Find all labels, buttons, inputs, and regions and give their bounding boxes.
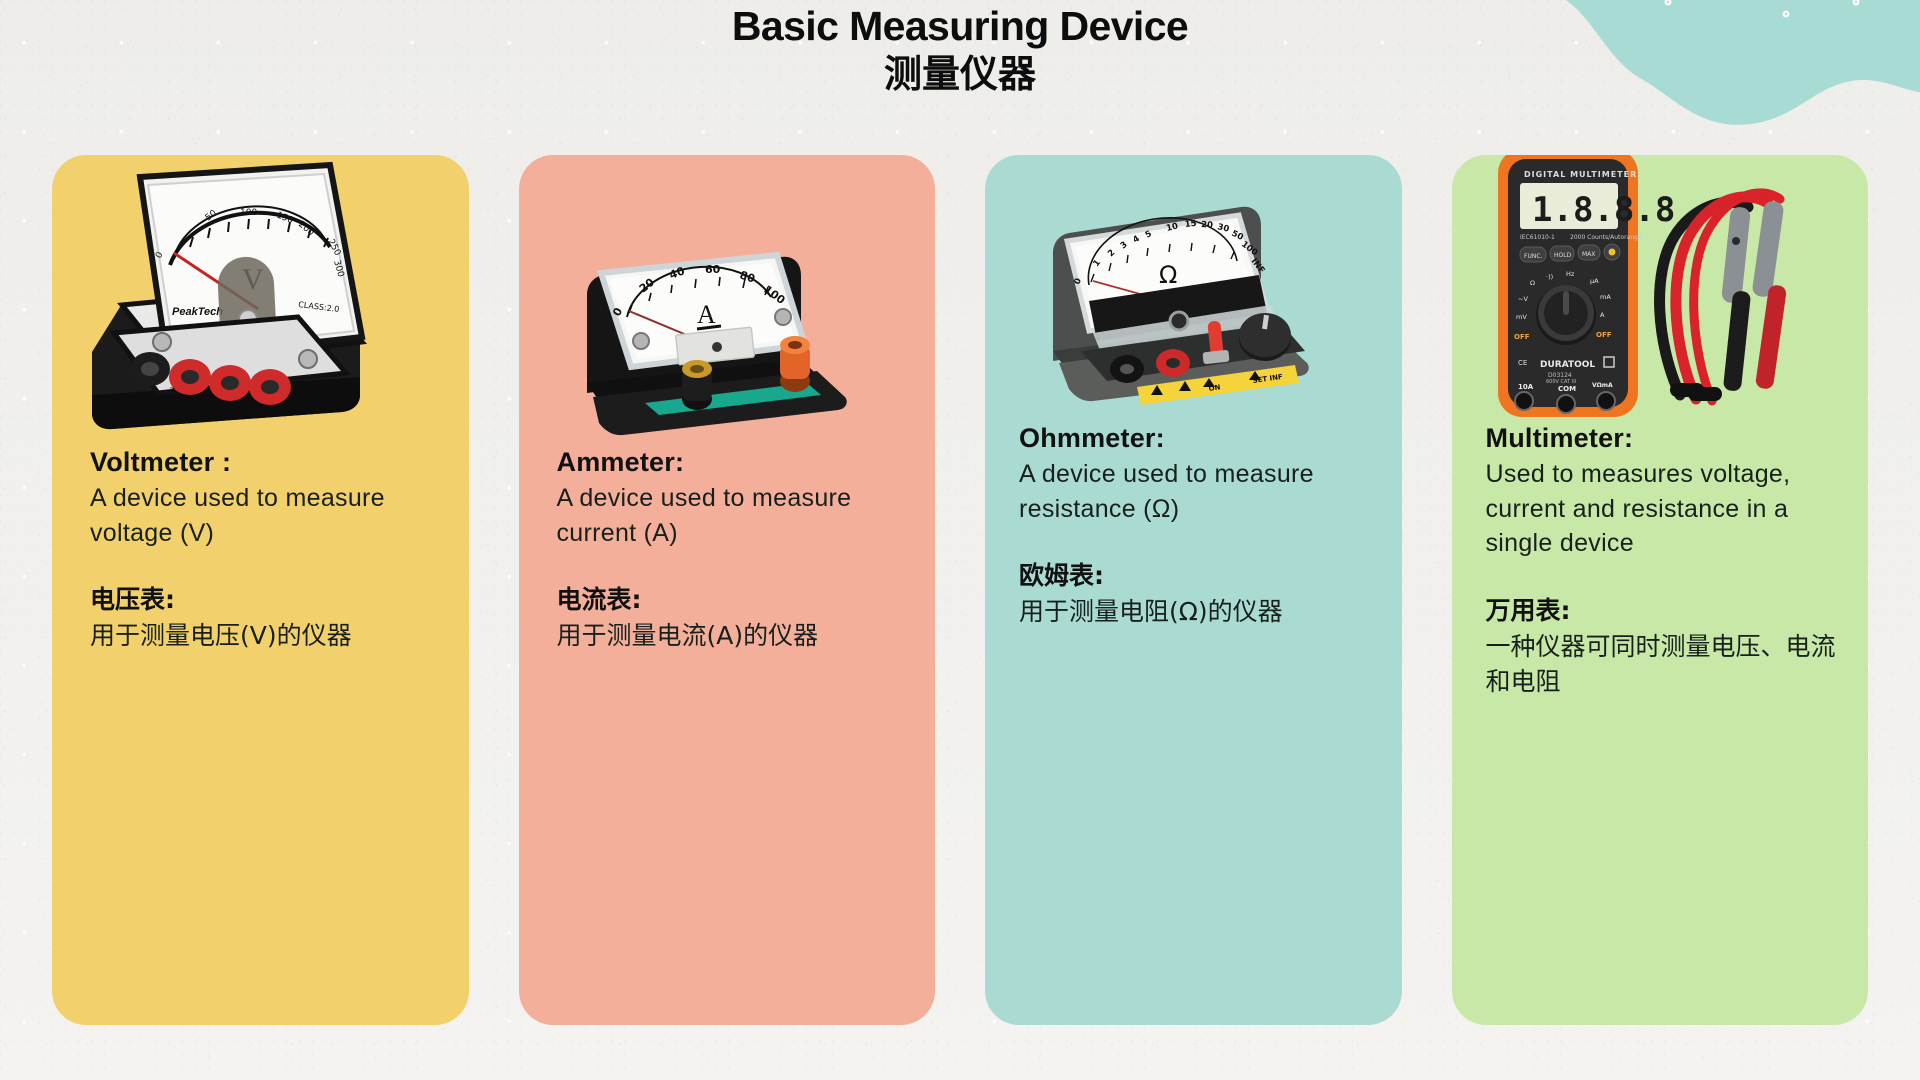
svg-text:CE: CE — [1518, 359, 1527, 367]
svg-text:COM: COM — [1558, 385, 1576, 393]
svg-text:2000 Counts/Autorange: 2000 Counts/Autorange — [1570, 234, 1642, 241]
svg-text:DIGITAL MULTIMETER: DIGITAL MULTIMETER — [1524, 170, 1637, 179]
voltmeter-text: Voltmeter : A device used to measure vol… — [52, 447, 469, 1025]
multimeter-desc-zh: 一种仪器可同时测量电压、电流和电阻 — [1486, 629, 1839, 700]
ohmmeter-desc-zh: 用于测量电阻(Ω)的仪器 — [1019, 594, 1372, 630]
voltmeter-desc-zh: 用于测量电压(V)的仪器 — [90, 618, 439, 654]
ammeter-term-zh: 电流表: — [557, 580, 906, 616]
ammeter-desc-en: A device used to measure current (A) — [557, 481, 906, 550]
analog-ammeter-illustration: 0 20 40 60 80 100 A — [549, 155, 869, 455]
ohmmeter-text: Ohmmeter: A device used to measure resis… — [985, 423, 1402, 1025]
svg-text:15: 15 — [204, 395, 220, 410]
svg-text:HOLD: HOLD — [1554, 252, 1572, 259]
svg-text:MAX: MAX — [1582, 251, 1595, 258]
svg-text:VΩmA: VΩmA — [1592, 382, 1613, 389]
svg-text:OFF: OFF — [1514, 333, 1530, 341]
svg-text:A: A — [1600, 311, 1605, 319]
svg-text:mA: mA — [1600, 293, 1611, 301]
svg-text:20: 20 — [1201, 220, 1214, 231]
svg-text:15: 15 — [1184, 219, 1197, 230]
multimeter-text: Multimeter: Used to measures voltage, cu… — [1452, 423, 1869, 1025]
analog-ohmmeter-illustration: 0 1 2 3 4 5 10 15 20 30 50 100 INF Ω — [1027, 155, 1327, 425]
svg-text:Hz: Hz — [1566, 270, 1575, 278]
title-chinese: 测量仪器 — [0, 52, 1920, 98]
svg-text:µA: µA — [1590, 277, 1599, 285]
ammeter-text: Ammeter: A device used to measure curren… — [519, 447, 936, 1025]
svg-text:1.8.8.8: 1.8.8.8 — [1532, 190, 1675, 230]
svg-text:FUNC.: FUNC. — [1524, 253, 1543, 260]
ammeter-photo: 0 20 40 60 80 100 A — [519, 155, 936, 447]
svg-text:Ω: Ω — [1530, 279, 1535, 287]
svg-text:mV: mV — [1516, 313, 1527, 321]
svg-text:600V CAT III: 600V CAT III — [1546, 379, 1576, 385]
svg-text:OFF: OFF — [1596, 331, 1612, 339]
ohmmeter-photo: 0 1 2 3 4 5 10 15 20 30 50 100 INF Ω — [985, 155, 1402, 423]
card-ohmmeter: 0 1 2 3 4 5 10 15 20 30 50 100 INF Ω — [985, 155, 1402, 1025]
svg-text:PeakTech: PeakTech — [172, 306, 223, 318]
svg-text:IEC61010-1: IEC61010-1 — [1520, 234, 1555, 241]
multimeter-photo: DIGITAL MULTIMETER 1.8.8.8 IEC61010-1 20… — [1452, 155, 1869, 423]
svg-text:100: 100 — [240, 208, 257, 218]
svg-text:~V: ~V — [1518, 295, 1528, 303]
ohmmeter-term-en: Ohmmeter: — [1019, 423, 1372, 454]
card-voltmeter: 0 100 50 200 150 250 300 V PeakTech CLAS… — [52, 155, 469, 1025]
analog-voltmeter-illustration: 0 100 50 200 150 250 300 V PeakTech CLAS… — [62, 155, 392, 457]
ohmmeter-desc-en: A device used to measure resistance (Ω) — [1019, 457, 1372, 526]
digital-multimeter-illustration: DIGITAL MULTIMETER 1.8.8.8 IEC61010-1 20… — [1474, 155, 1794, 433]
svg-text:DURATOOL: DURATOOL — [1540, 360, 1595, 370]
svg-text:D03124: D03124 — [1548, 372, 1572, 379]
ammeter-desc-zh: 用于测量电流(A)的仪器 — [557, 618, 906, 654]
svg-text:60: 60 — [705, 263, 721, 276]
page-title: Basic Measuring Device 测量仪器 — [0, 2, 1920, 98]
card-ammeter: 0 20 40 60 80 100 A — [519, 155, 936, 1025]
svg-text:A: A — [697, 300, 716, 329]
multimeter-desc-en: Used to measures voltage, current and re… — [1486, 457, 1839, 561]
svg-text:Ω: Ω — [1159, 261, 1177, 289]
card-multimeter: DIGITAL MULTIMETER 1.8.8.8 IEC61010-1 20… — [1452, 155, 1869, 1025]
svg-text:10A: 10A — [1518, 383, 1534, 391]
multimeter-term-zh: 万用表: — [1486, 591, 1839, 627]
svg-text:·)): ·)) — [1546, 273, 1553, 281]
voltmeter-term-zh: 电压表: — [90, 580, 439, 616]
ohmmeter-term-zh: 欧姆表: — [1019, 556, 1372, 592]
voltmeter-desc-en: A device used to measure voltage (V) — [90, 481, 439, 550]
device-cards-row: 0 100 50 200 150 250 300 V PeakTech CLAS… — [52, 155, 1868, 1025]
title-english: Basic Measuring Device — [0, 2, 1920, 50]
voltmeter-photo: 0 100 50 200 150 250 300 V PeakTech CLAS… — [52, 155, 469, 447]
